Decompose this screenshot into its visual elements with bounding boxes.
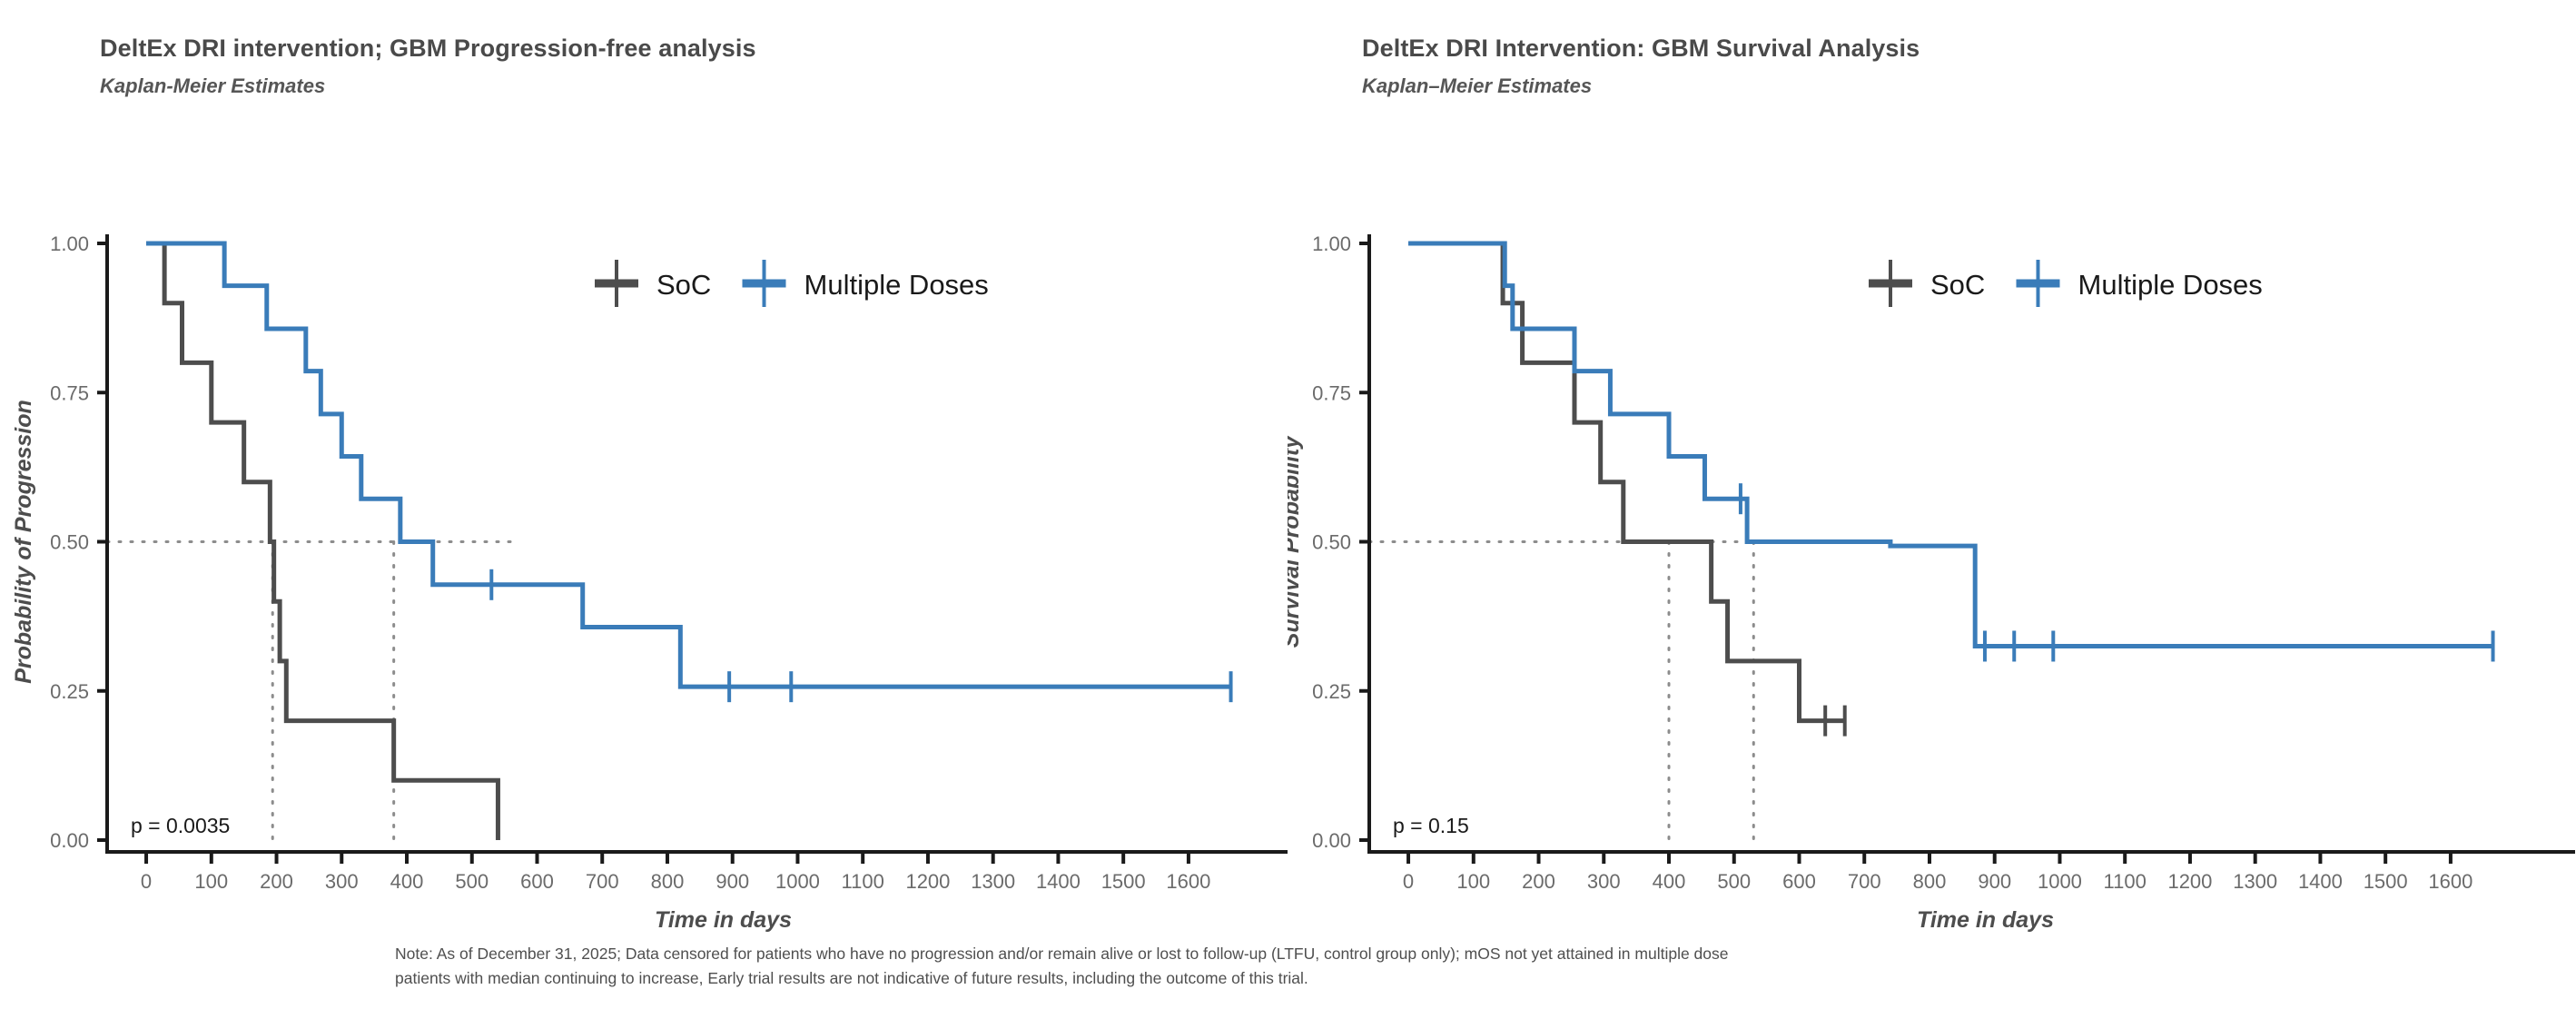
- legend-item-multiple-doses[interactable]: Multiple Doses: [743, 260, 989, 307]
- series-line-soc: [1408, 243, 1845, 721]
- legend-item-soc[interactable]: SoC: [595, 260, 711, 307]
- footnote-line-2: patients with median continuing to incre…: [395, 966, 2202, 991]
- plot-area-pfs: 0.000.250.500.751.0001002003004005006007…: [11, 232, 1288, 933]
- x-tick-label: 1400: [2298, 870, 2343, 893]
- y-axis-title: Probability of Progression: [11, 400, 36, 684]
- y-tick-label: 0.25: [1312, 680, 1351, 703]
- x-tick-label: 500: [1717, 870, 1751, 893]
- plot-area-os: 0.000.250.500.751.0001002003004005006007…: [1288, 232, 2575, 933]
- series-line-multiple-doses: [146, 243, 1231, 687]
- x-tick-label: 1500: [1101, 870, 1146, 893]
- y-tick-label: 1.00: [1312, 232, 1351, 255]
- x-tick-label: 400: [390, 870, 424, 893]
- x-axis-title: Time in days: [1917, 907, 2054, 933]
- legend-label: Multiple Doses: [804, 269, 989, 301]
- x-tick-label: 500: [455, 870, 489, 893]
- x-tick-label: 1600: [1166, 870, 1210, 893]
- plus-icon: [2017, 260, 2060, 307]
- y-tick-label: 0.00: [1312, 829, 1351, 852]
- legend: SoCMultiple Doses: [1869, 260, 2263, 307]
- y-tick-label: 0.50: [50, 531, 89, 554]
- footnote: Note: As of December 31, 2025; Data cens…: [395, 942, 2202, 991]
- footnote-line-1: Note: As of December 31, 2025; Data cens…: [395, 942, 2202, 966]
- kaplan-meier-figure: DeltEx DRI intervention; GBM Progression…: [0, 0, 2576, 1019]
- legend-label: Multiple Doses: [2078, 269, 2263, 301]
- x-tick-label: 600: [520, 870, 554, 893]
- plot-os: 0.000.250.500.751.0001002003004005006007…: [1288, 0, 2575, 935]
- plus-icon: [743, 260, 786, 307]
- plus-icon: [595, 260, 638, 307]
- y-axis-title: Survival Probability: [1288, 435, 1304, 648]
- p-value-annotation: p = 0.15: [1393, 814, 1469, 837]
- x-tick-label: 1300: [971, 870, 1015, 893]
- x-tick-label: 1100: [842, 870, 884, 893]
- x-tick-label: 1200: [905, 870, 950, 893]
- panels-container: DeltEx DRI intervention; GBM Progression…: [0, 0, 2576, 935]
- legend-label: SoC: [656, 269, 711, 301]
- legend-item-multiple-doses[interactable]: Multiple Doses: [2017, 260, 2263, 307]
- x-tick-label: 300: [325, 870, 359, 893]
- x-tick-label: 1500: [2364, 870, 2408, 893]
- panel-progression-free-survival: DeltEx DRI intervention; GBM Progression…: [0, 0, 1288, 935]
- x-tick-label: 100: [194, 870, 228, 893]
- x-tick-label: 0: [1403, 870, 1414, 893]
- x-tick-label: 700: [1848, 870, 1881, 893]
- series-line-multiple-doses: [1408, 243, 2493, 646]
- y-tick-label: 1.00: [50, 232, 89, 255]
- plus-icon: [1869, 260, 1912, 307]
- y-tick-label: 0.50: [1312, 531, 1351, 554]
- y-tick-label: 0.00: [50, 829, 89, 852]
- x-tick-label: 1000: [2038, 870, 2082, 893]
- legend: SoCMultiple Doses: [595, 260, 989, 307]
- x-tick-label: 0: [141, 870, 152, 893]
- x-tick-label: 200: [260, 870, 293, 893]
- x-tick-label: 1400: [1036, 870, 1081, 893]
- x-tick-label: 600: [1782, 870, 1816, 893]
- y-tick-label: 0.25: [50, 680, 89, 703]
- x-tick-label: 200: [1522, 870, 1555, 893]
- x-tick-label: 1300: [2233, 870, 2277, 893]
- panel-overall-survival: DeltEx DRI Intervention: GBM Survival An…: [1288, 0, 2575, 935]
- x-tick-label: 900: [716, 870, 749, 893]
- x-tick-label: 1600: [2428, 870, 2472, 893]
- x-tick-label: 800: [651, 870, 685, 893]
- x-tick-label: 1200: [2167, 870, 2212, 893]
- x-tick-label: 400: [1653, 870, 1686, 893]
- x-tick-label: 300: [1587, 870, 1621, 893]
- y-tick-label: 0.75: [1312, 381, 1351, 404]
- p-value-annotation: p = 0.0035: [131, 814, 230, 837]
- x-tick-label: 1100: [2104, 870, 2147, 893]
- legend-label: SoC: [1930, 269, 1985, 301]
- x-tick-label: 700: [586, 870, 619, 893]
- legend-item-soc[interactable]: SoC: [1869, 260, 1985, 307]
- x-axis-title: Time in days: [655, 907, 792, 933]
- plot-pfs: 0.000.250.500.751.0001002003004005006007…: [0, 0, 1288, 935]
- x-tick-label: 1000: [775, 870, 820, 893]
- x-tick-label: 900: [1978, 870, 2011, 893]
- x-tick-label: 800: [1913, 870, 1947, 893]
- y-tick-label: 0.75: [50, 381, 89, 404]
- x-tick-label: 100: [1456, 870, 1490, 893]
